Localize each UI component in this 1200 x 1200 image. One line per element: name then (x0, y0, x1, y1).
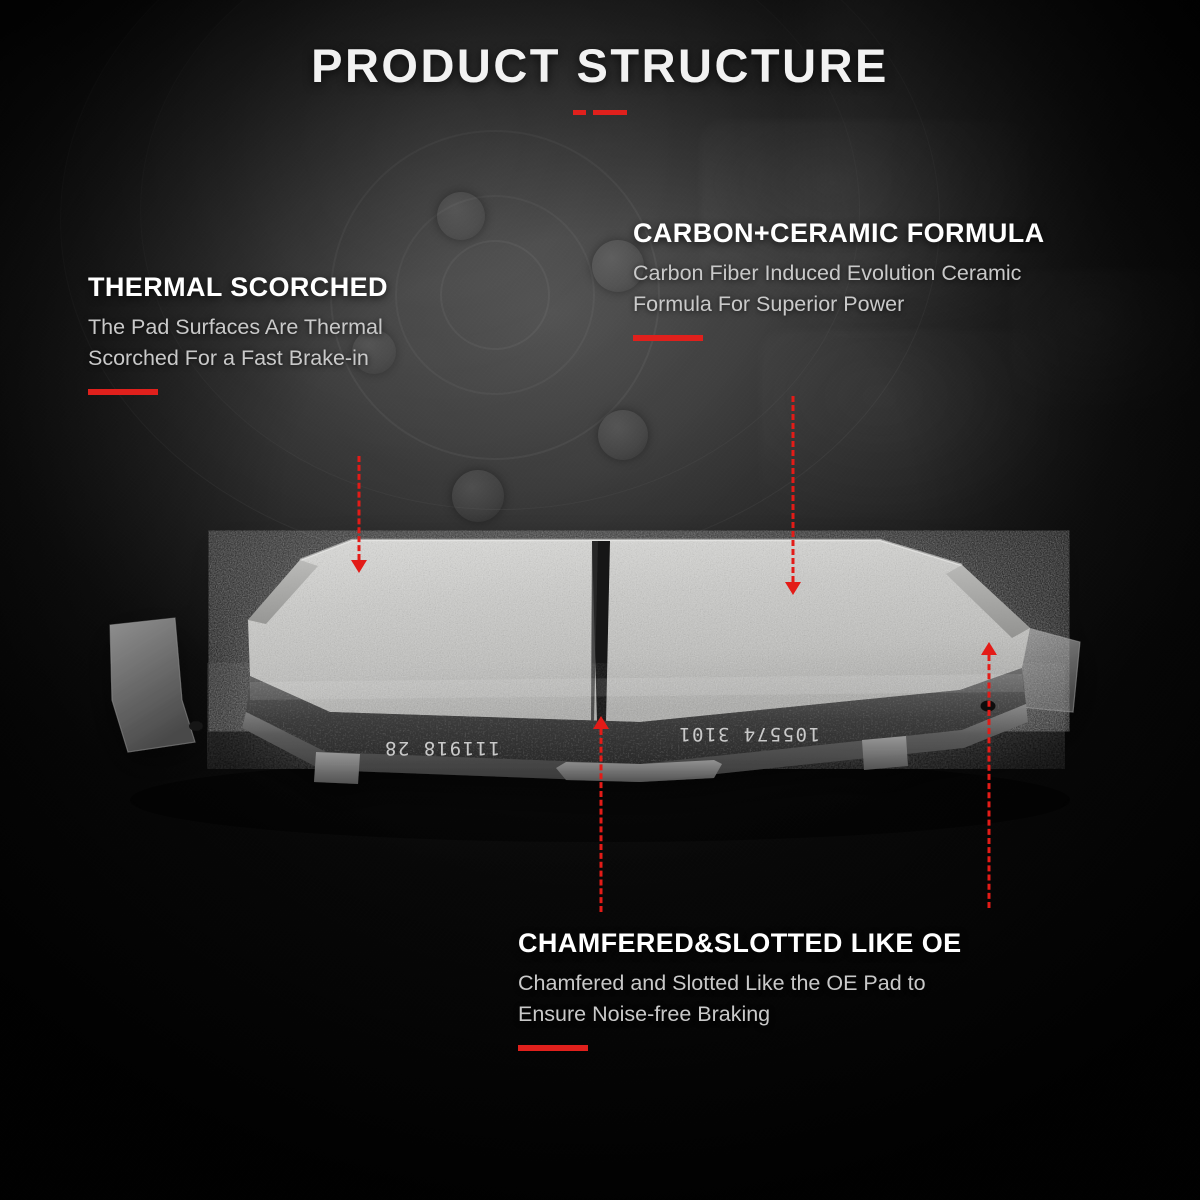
svg-text:111918 28: 111918 28 (384, 737, 500, 759)
product-structure-infographic: PRODUCT STRUCTURE THERMAL SCORCHED The P… (0, 0, 1200, 1200)
arrow-head-up-icon (981, 642, 997, 655)
leader-stem (600, 729, 603, 912)
mounting-ear-left (110, 618, 195, 752)
leader-stem (988, 655, 991, 908)
leader-arrow-center-slot (594, 716, 608, 912)
locating-hole-left (189, 721, 203, 731)
leader-arrow-chamfered-edge (982, 642, 996, 908)
retaining-tab-left (314, 752, 360, 784)
retaining-tab-right (862, 736, 908, 770)
arrow-head-down-icon (351, 560, 367, 573)
leader-stem (792, 396, 795, 582)
leader-arrow-thermal-scorched (352, 456, 366, 582)
leader-stem (358, 456, 361, 560)
backing-plate-marking-right: 105574 3101 (678, 723, 820, 745)
arrow-head-up-icon (593, 716, 609, 729)
backing-plate-marking-left: 111918 28 (384, 737, 500, 759)
arrow-head-down-icon (785, 582, 801, 595)
leader-arrow-carbon-ceramic (786, 396, 800, 604)
brake-pad-illustration: 111918 28 105574 3101 (0, 0, 1200, 1200)
svg-text:105574 3101: 105574 3101 (678, 723, 820, 745)
